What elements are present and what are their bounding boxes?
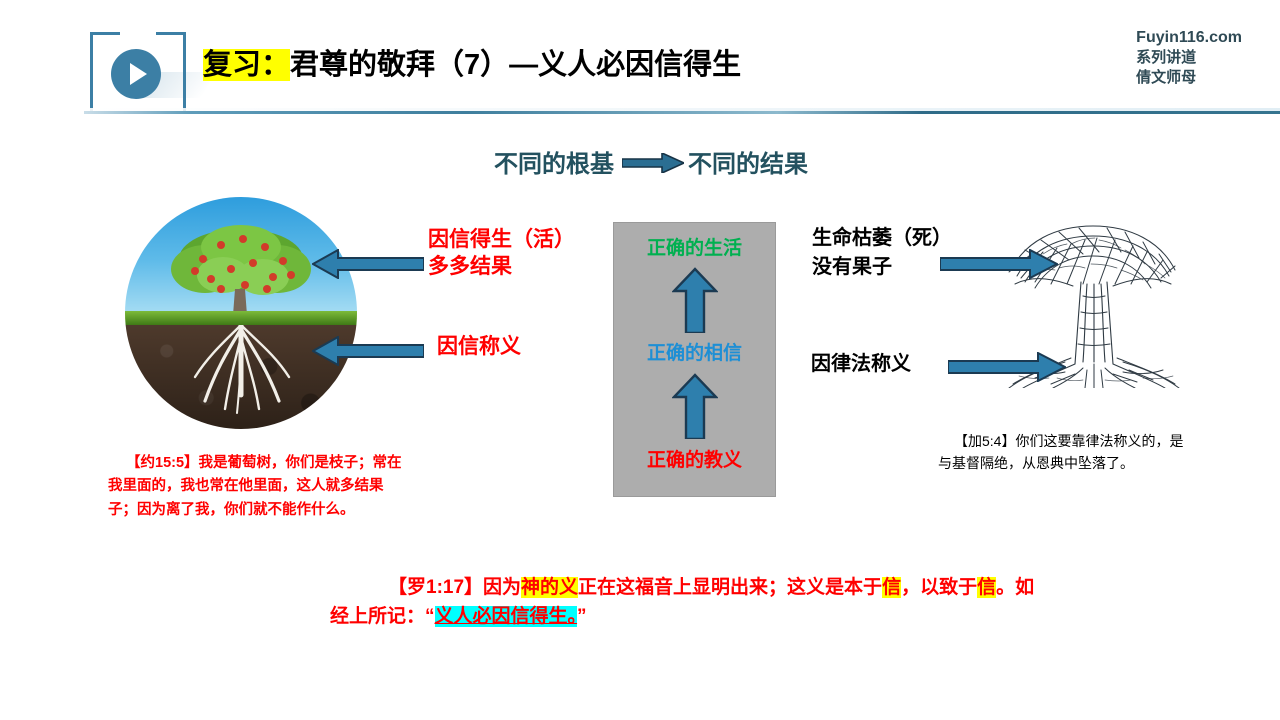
- verse-highlight-faith-2: 信: [977, 577, 996, 598]
- verse-highlight-just-shall-live-by-faith: 义人必因信得生。: [435, 606, 578, 627]
- label-right-doctrine: 正确的教义: [614, 445, 775, 472]
- page-title: 复习：君尊的敬拜（7）—义人必因信得生: [203, 47, 741, 83]
- header-divider: [84, 111, 1280, 114]
- right-triad-box: 正确的生活 正确的相信 正确的教义: [613, 222, 776, 497]
- verse-seg-5: ，以致于: [901, 577, 977, 598]
- subtitle-right-arrow-icon: [622, 152, 684, 172]
- label-life-withered: 生命枯萎（死）: [812, 226, 952, 252]
- play-triangle-icon: [130, 63, 147, 85]
- scripture-john-15-5: 【约15:5】我是葡萄树，你们是枝子；常在我里面的，我也常在他里面，这人就多结果…: [108, 452, 408, 522]
- scripture-galatians-5-4: 【加5:4】你们这要靠律法称义的，是与基督隔绝，从恩典中坠落了。: [938, 430, 1196, 475]
- photo-grass: [125, 311, 357, 325]
- subtitle-right: 不同的结果: [688, 144, 808, 179]
- arrow-to-dead-roots-right-arrow-icon: [948, 352, 1066, 382]
- label-right-living: 正确的生活: [614, 233, 775, 260]
- label-right-believing: 正确的相信: [614, 338, 775, 365]
- brand-series: 系列讲道: [1136, 48, 1242, 68]
- up-arrow-icon-lower: [672, 373, 718, 439]
- slide-canvas: 复习：君尊的敬拜（7）—义人必因信得生 Fuyin116.com 系列讲道 倩文…: [0, 0, 1280, 720]
- subtitle: 不同的根基 不同的结果: [494, 144, 808, 179]
- verse-seg-9: ”: [577, 606, 587, 627]
- verse-seg-1: 【罗1:17】因为: [388, 577, 521, 598]
- title-rest: 君尊的敬拜（7）—义人必因信得生: [290, 49, 741, 81]
- arrow-to-roots-left-arrow-icon: [312, 336, 424, 366]
- verse-seg-3: 正在这福音上显明出来；这义是本于: [578, 577, 882, 598]
- label-live-by-faith: 因信得生（活）: [428, 227, 575, 254]
- play-icon[interactable]: [111, 49, 161, 99]
- scripture-romans-1-17: 【罗1:17】因为神的义正在这福音上显明出来；这义是本于信，以致于信。如经上所记…: [330, 574, 1050, 632]
- verse-highlight-righteousness-of-god: 神的义: [521, 577, 578, 598]
- label-justified-by-faith: 因信称义: [437, 334, 521, 361]
- up-arrow-icon-upper: [672, 267, 718, 333]
- label-no-fruit: 没有果子: [812, 255, 892, 281]
- fruit-tree-photo: [125, 197, 357, 429]
- subtitle-left: 不同的根基: [494, 144, 614, 179]
- brand-speaker: 倩文师母: [1136, 68, 1242, 88]
- label-much-fruit: 多多结果: [428, 254, 512, 281]
- arrow-to-canopy-left-arrow-icon: [312, 249, 424, 279]
- brand-block: Fuyin116.com 系列讲道 倩文师母: [1136, 27, 1242, 88]
- verse-highlight-faith-1: 信: [882, 577, 901, 598]
- label-justified-by-law: 因律法称义: [811, 352, 911, 378]
- brand-site: Fuyin116.com: [1136, 27, 1242, 48]
- arrow-to-dead-canopy-right-arrow-icon: [940, 249, 1058, 279]
- title-highlight: 复习：: [203, 49, 290, 81]
